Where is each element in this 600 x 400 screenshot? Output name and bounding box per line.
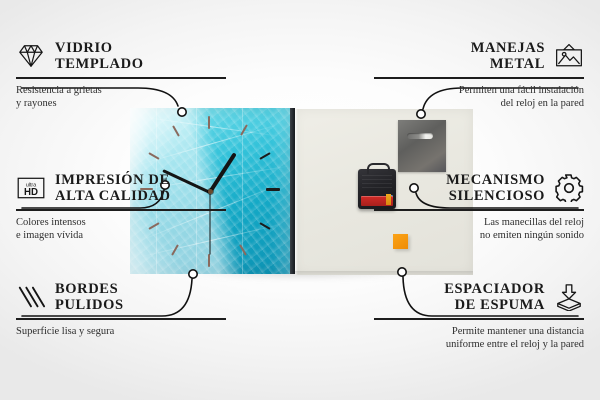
feature-rule: [374, 318, 584, 320]
clock-tick-6: [208, 254, 210, 267]
feature-vidrio-templado: VIDRIO TEMPLADO Resistencia a grietas y …: [16, 40, 226, 110]
feature-rule: [374, 77, 584, 79]
feature-title: BORDES PULIDOS: [55, 281, 124, 313]
picture-frame-hanger-icon: [554, 42, 584, 70]
feature-description: Colores intensos e imagen vívida: [16, 216, 226, 242]
feature-title: IMPRESIÓN DE ALTA CALIDAD: [55, 172, 171, 204]
feature-title: MECANISMO SILENCIOSO: [446, 172, 545, 204]
feature-title: VIDRIO TEMPLADO: [55, 40, 144, 72]
clock-tick-12: [208, 116, 210, 129]
hanger-keyhole-slot: [407, 133, 433, 139]
foam-spacer-icon: [554, 283, 584, 311]
ultra-hd-icon: ultra HD: [16, 174, 46, 202]
feature-bordes-pulidos: BORDES PULIDOS Superficie lisa y segura: [16, 281, 226, 338]
metal-hanger-plate: [398, 120, 446, 172]
feature-manejas-metal: MANEJAS METAL Permiten una fácil instala…: [374, 40, 584, 110]
feature-mecanismo-silencioso: MECANISMO SILENCIOSO Las manecillas del …: [374, 172, 584, 242]
feature-rule: [16, 318, 226, 320]
feature-title: MANEJAS METAL: [471, 40, 545, 72]
feature-description: Superficie lisa y segura: [16, 325, 226, 338]
feature-description: Permite mantener una distancia uniforme …: [374, 325, 584, 351]
ultra-hd-bottom-label: HD: [24, 187, 38, 198]
feature-rule: [16, 209, 226, 211]
feature-description: Las manecillas del reloj no emiten ningú…: [374, 216, 584, 242]
polished-edges-icon: [16, 283, 46, 311]
diamond-icon: [16, 42, 46, 70]
gear-icon: [554, 174, 584, 202]
feature-description: Resistencia a grietas y rayones: [16, 84, 226, 110]
feature-impresion-alta-calidad: ultra HD IMPRESIÓN DE ALTA CALIDAD Color…: [16, 172, 226, 242]
panel-bottom-shade: [295, 271, 473, 275]
infographic-canvas: VIDRIO TEMPLADO Resistencia a grietas y …: [0, 0, 600, 400]
feature-espaciador-espuma: ESPACIADOR DE ESPUMA Permite mantener un…: [374, 281, 584, 351]
feature-rule: [374, 209, 584, 211]
feature-description: Permiten una fácil instalación del reloj…: [374, 84, 584, 110]
feature-title: ESPACIADOR DE ESPUMA: [444, 281, 545, 313]
feature-rule: [16, 77, 226, 79]
panel-bevel: [295, 109, 298, 275]
clock-tick-3: [266, 188, 280, 191]
